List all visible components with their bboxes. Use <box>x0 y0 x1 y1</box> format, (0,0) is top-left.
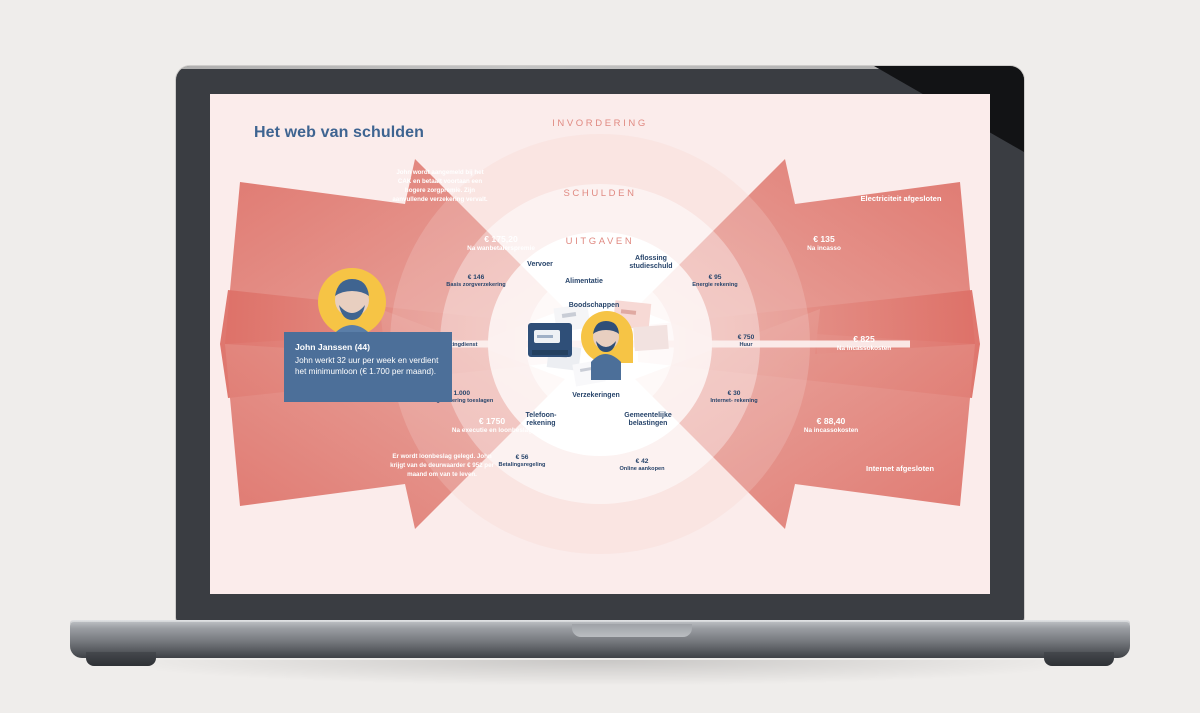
story-loonbeslag: Er wordt loonbeslag gelegd. John krijgt … <box>390 452 494 479</box>
debt-amount: € 750 <box>738 334 755 341</box>
debt-amount: € 30 <box>728 390 741 397</box>
ring-label-schulden: SCHULDEN <box>520 188 680 199</box>
collection-na-executie-en-loonbeslag: € 1750 Na executie en loonbeslag <box>442 416 542 434</box>
collection-amount: € 135 <box>813 234 835 244</box>
expense-alimentatie: Alimentatie <box>548 278 620 286</box>
expense-verzekeringen: Verzekeringen <box>558 392 634 400</box>
debt-energierekening: € 95 Energie rekening <box>682 274 748 289</box>
debt-label: Online aankopen <box>602 466 682 473</box>
screenshot-stage: Het web van schulden INVORDERING SCHULDE… <box>0 0 1200 713</box>
expense-vervoer: Vervoer <box>510 261 570 269</box>
collection-amount: € 88,40 <box>817 416 846 426</box>
collection-label: Na executie en loonbeslag <box>442 427 542 435</box>
persona-description: John werkt 32 uur per week en verdient h… <box>295 355 441 378</box>
collection-na-incassokosten-bottom: € 88,40 Na incassokosten <box>776 416 886 434</box>
debt-online-aankopen: € 42 Online aankopen <box>602 458 682 473</box>
collection-amount: € 825 <box>853 334 875 344</box>
story-cak-zorgpremie: John wordt aangemeld bij het CAK en beta… <box>390 168 490 204</box>
persona-card: John Janssen (44) John werkt 32 uur per … <box>284 332 452 402</box>
debt-amount: € 56 <box>516 454 529 461</box>
collection-na-incassokosten-right: € 825 Na incassokosten <box>810 334 918 352</box>
collection-label: Na incassokosten <box>776 427 886 435</box>
persona-name: John Janssen (44) <box>295 341 441 354</box>
debt-amount: € 42 <box>636 458 649 465</box>
debt-label: Energie rekening <box>682 282 748 289</box>
page-title: Het web van schulden <box>254 124 424 142</box>
expense-aflossing-studieschuld: Aflossing studieschuld <box>618 255 684 272</box>
laptop-drop-shadow <box>100 660 1100 686</box>
expense-boodschappen: Boodschappen <box>556 302 632 310</box>
debt-amount: € 146 <box>468 274 485 281</box>
expense-gemeentelijke-belastingen: Gemeentelijke belastingen <box>610 412 686 429</box>
collection-label: Na wanbetalerspremie <box>442 245 560 253</box>
laptop-screen: Het web van schulden INVORDERING SCHULDE… <box>210 94 990 594</box>
laptop-base-notch <box>572 624 692 637</box>
debt-betalingsregeling: € 56 Betalingsregeling <box>482 454 562 469</box>
collection-label: Na incasso <box>776 245 872 253</box>
outcome-electriciteit-afgesloten: Electriciteit afgesloten <box>826 195 976 204</box>
mailbox-icon <box>528 323 572 357</box>
collection-amount: € 175,20 <box>484 234 517 244</box>
collection-na-incasso: € 135 Na incasso <box>776 234 872 252</box>
debt-amount: € 95 <box>709 274 722 281</box>
persona-block: John Janssen (44) John werkt 32 uur per … <box>284 270 454 390</box>
debt-internetrekening: € 30 Internet- rekening <box>702 390 766 405</box>
debt-label: Betalingsregeling <box>482 462 562 469</box>
laptop-lid: Het web van schulden INVORDERING SCHULDE… <box>176 66 1024 622</box>
debt-label: Internet- rekening <box>702 398 766 405</box>
ring-label-invordering: INVORDERING <box>520 118 680 129</box>
collection-na-wanbetalerspremie: € 175,20 Na wanbetalerspremie <box>442 234 560 252</box>
collection-label: Na incassokosten <box>810 345 918 353</box>
debt-label: Huur <box>718 342 774 349</box>
outcome-internet-afgesloten: Internet afgesloten <box>830 465 970 474</box>
debt-huur: € 750 Huur <box>718 334 774 349</box>
collection-amount: € 1750 <box>479 416 505 426</box>
